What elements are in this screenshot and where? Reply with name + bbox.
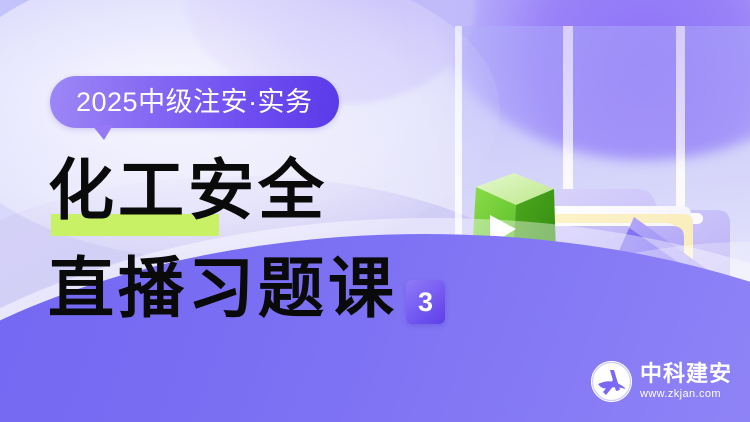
course-tag-tail-icon	[92, 125, 113, 140]
episode-number-badge: 3	[406, 280, 445, 324]
zkjan-circle-mark-icon	[591, 361, 632, 402]
brand-url: www.zkjan.com	[640, 389, 732, 400]
headline-line-2-row: 直播习题课 3	[48, 250, 445, 330]
brand-name: 中科建安	[640, 363, 732, 385]
headline-line-2: 直播习题课	[48, 250, 398, 330]
course-tag-pill: 2025中级注安·实务	[50, 76, 339, 128]
headline-line-1-row: 化工安全	[48, 152, 445, 232]
course-banner: 2025中级注安·实务 化工安全 直播习题课 3 中科建安 www.zkjan	[0, 0, 750, 422]
headline-block: 化工安全 直播习题课 3	[48, 152, 445, 330]
headline-line-1: 化工安全	[48, 155, 328, 228]
brand-logo-text: 中科建安 www.zkjan.com	[640, 363, 732, 400]
course-tag-label: 2025中级注安·实务	[76, 89, 313, 116]
course-tag: 2025中级注安·实务	[50, 76, 339, 128]
brand-logo[interactable]: 中科建安 www.zkjan.com	[591, 361, 732, 402]
